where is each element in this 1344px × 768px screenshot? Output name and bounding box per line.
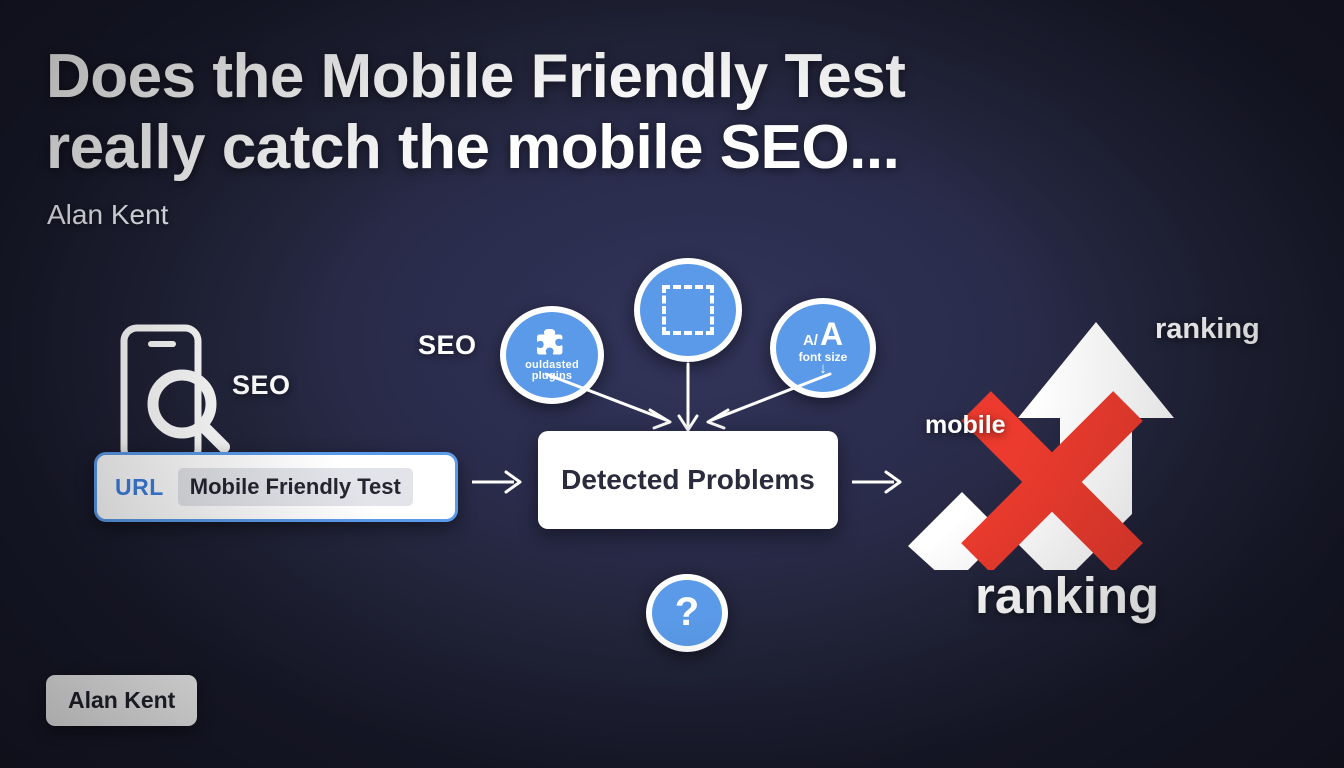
magnifying-glass-icon (153, 375, 224, 447)
label-ranking-top: ranking (1155, 313, 1260, 346)
font-size-small-a: A/ (803, 333, 818, 348)
url-label: URL (115, 474, 164, 501)
question-mark-icon: ? (675, 592, 699, 632)
arrow-from-plugins (546, 374, 670, 428)
arrow-right-icon-1 (470, 465, 528, 499)
slide-canvas: Does the Mobile Friendly Test really cat… (0, 0, 1344, 768)
phone-search-icon-group (112, 322, 232, 472)
detected-problems-label: Detected Problems (561, 464, 815, 496)
seo-label-middle: SEO (418, 330, 477, 361)
author-badge: Alan Kent (46, 675, 197, 726)
arrow-from-font-size (708, 374, 830, 428)
converging-arrows-group (490, 360, 890, 438)
arrow-from-viewport (679, 364, 697, 430)
dashed-rectangle-icon (662, 285, 714, 335)
font-size-icon: A/ A (803, 321, 843, 348)
url-input-bar[interactable]: URL Mobile Friendly Test (94, 452, 458, 522)
label-ranking-bottom: ranking (975, 566, 1159, 625)
question-mark-badge[interactable]: ? (646, 574, 728, 652)
author-badge-label: Alan Kent (68, 687, 175, 713)
font-size-big-a: A (820, 321, 843, 348)
byline-author: Alan Kent (47, 199, 168, 231)
page-title: Does the Mobile Friendly Test really cat… (46, 42, 1046, 183)
detected-problems-box[interactable]: Detected Problems (538, 431, 838, 529)
puzzle-piece-icon (535, 328, 569, 359)
url-input-value[interactable]: Mobile Friendly Test (178, 468, 413, 506)
seo-label-left: SEO (232, 370, 291, 401)
mobile-phone-icon (112, 322, 232, 472)
label-mobile: mobile (925, 411, 1006, 440)
issue-circle-viewport[interactable] (634, 258, 742, 362)
